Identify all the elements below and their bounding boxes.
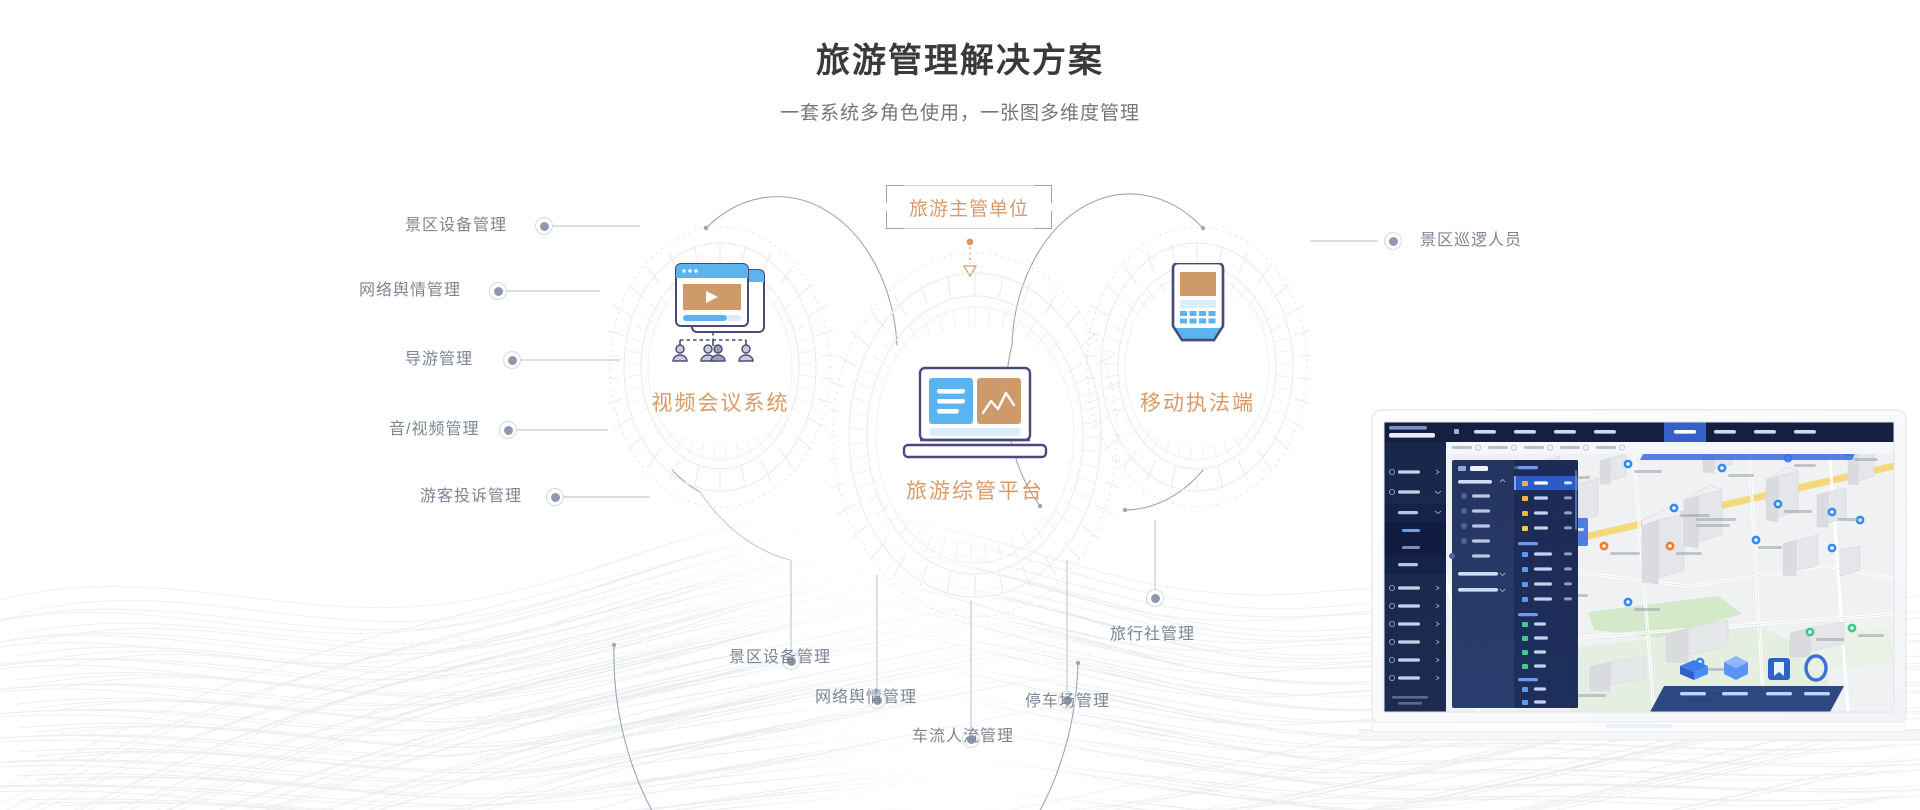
label-right-1[interactable]: 景区巡逻人员 bbox=[1420, 231, 1522, 251]
label-bottom-1[interactable]: 景区设备管理 bbox=[729, 648, 831, 668]
handheld-device-icon bbox=[1163, 263, 1233, 361]
laptop-mockup[interactable] bbox=[1358, 400, 1920, 800]
corner-bracket-bottom-left bbox=[886, 211, 904, 229]
page-title: 旅游管理解决方案 bbox=[0, 38, 1920, 84]
page-header: 旅游管理解决方案 一套系统多角色使用，一张图多维度管理 bbox=[0, 38, 1920, 128]
corner-bracket-top-right bbox=[1034, 185, 1052, 203]
page-subtitle: 一套系统多角色使用，一张图多维度管理 bbox=[0, 100, 1920, 128]
node-dot-left-5[interactable] bbox=[546, 488, 564, 506]
label-left-2[interactable]: 网络舆情管理 bbox=[359, 281, 461, 301]
label-bottom-4[interactable]: 停车场管理 bbox=[1025, 692, 1110, 712]
label-bottom-5[interactable]: 旅行社管理 bbox=[1110, 625, 1195, 645]
node-dot-left-2[interactable] bbox=[489, 282, 507, 300]
supervisor-label: 旅游主管单位 bbox=[909, 194, 1029, 221]
solution-overview-page: 旅游管理解决方案 一套系统多角色使用，一张图多维度管理 bbox=[0, 0, 1920, 810]
node-dot-left-4[interactable] bbox=[499, 421, 517, 439]
label-left-3[interactable]: 导游管理 bbox=[405, 350, 473, 370]
ring-tourism-platform[interactable]: 旅游综管平台 bbox=[830, 250, 1120, 620]
node-dot-left-3[interactable] bbox=[503, 351, 521, 369]
label-left-1[interactable]: 景区设备管理 bbox=[405, 216, 507, 236]
node-dot-bottom-5[interactable] bbox=[1146, 589, 1164, 607]
ring-video-conference[interactable]: 视频会议系统 bbox=[608, 225, 833, 510]
ring-mobile-enforcement[interactable]: 移动执法端 bbox=[1085, 225, 1310, 510]
node-dot-left-1[interactable] bbox=[535, 217, 553, 235]
video-conference-icon bbox=[658, 260, 783, 365]
node-dot-right-1[interactable] bbox=[1384, 232, 1402, 250]
ring-label-video-conference: 视频会议系统 bbox=[608, 387, 833, 417]
ring-label-mobile-enforcement: 移动执法端 bbox=[1085, 387, 1310, 417]
label-bottom-2[interactable]: 网络舆情管理 bbox=[815, 688, 917, 708]
corner-bracket-top-left bbox=[886, 185, 904, 203]
corner-bracket-bottom-right bbox=[1034, 211, 1052, 229]
ring-label-tourism-platform: 旅游综管平台 bbox=[830, 475, 1120, 505]
label-left-4[interactable]: 音/视频管理 bbox=[389, 420, 479, 440]
label-bottom-3[interactable]: 车流人流管理 bbox=[912, 727, 1014, 747]
box-edge-top bbox=[904, 185, 1034, 186]
laptop-dashboard-icon bbox=[898, 365, 1052, 463]
box-edge-bottom bbox=[904, 228, 1034, 229]
supervisor-box[interactable]: 旅游主管单位 bbox=[886, 185, 1052, 229]
label-left-5[interactable]: 游客投诉管理 bbox=[420, 487, 522, 507]
